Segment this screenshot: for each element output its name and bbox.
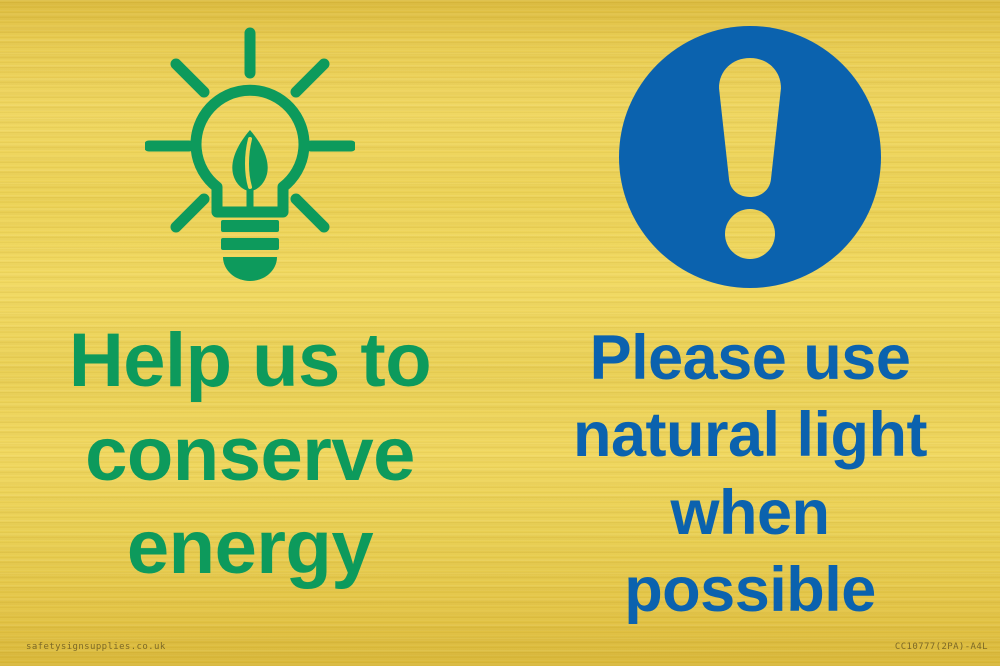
text-row: Help us to conserve energy Please use na… bbox=[0, 310, 1000, 620]
energy-saving-lightbulb-leaf-icon bbox=[145, 27, 355, 287]
supplier-website: safetysignsupplies.co.uk bbox=[26, 642, 166, 652]
right-line-4: possible bbox=[624, 558, 876, 622]
blue-circle bbox=[619, 26, 881, 288]
ray-upper-right bbox=[296, 64, 324, 92]
mandatory-exclamation-circle-icon bbox=[619, 26, 881, 288]
right-message-panel: Please use natural light when possible bbox=[500, 310, 1000, 636]
right-line-1: Please use bbox=[590, 326, 911, 390]
ray-lower-left bbox=[176, 199, 204, 227]
right-line-2: natural light bbox=[573, 403, 927, 467]
lightbulb-icon-container bbox=[0, 22, 500, 292]
left-line-3: energy bbox=[127, 509, 373, 587]
left-line-1: Help us to bbox=[69, 322, 431, 400]
ray-lower-right bbox=[296, 199, 324, 227]
base-thread-1 bbox=[221, 220, 279, 232]
icon-row bbox=[0, 0, 1000, 310]
base-thread-2 bbox=[221, 238, 279, 250]
product-code: CC10777(2PA)-A4L bbox=[895, 642, 988, 652]
left-message-panel: Help us to conserve energy bbox=[0, 310, 500, 632]
exclamation-icon-container bbox=[500, 22, 1000, 292]
ray-upper-left bbox=[176, 64, 204, 92]
left-line-2: conserve bbox=[85, 416, 415, 494]
safety-sign: Help us to conserve energy Please use na… bbox=[0, 0, 1000, 666]
right-line-3: when bbox=[670, 481, 829, 545]
base-tip bbox=[223, 257, 277, 281]
